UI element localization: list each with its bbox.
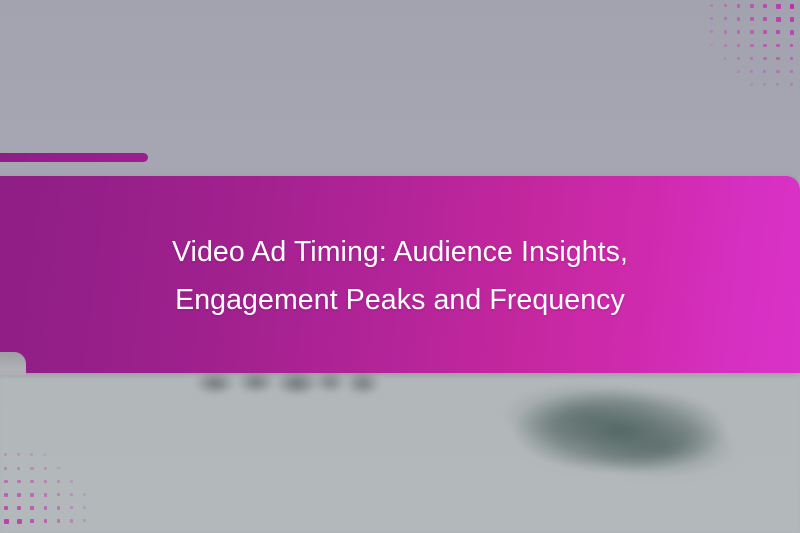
banner-graphic: Video Ad Timing: Audience Insights, Enga… [0, 0, 800, 533]
background-bottom-wash [0, 373, 800, 533]
banner-notch-shadow [0, 352, 26, 375]
page-title: Video Ad Timing: Audience Insights, Enga… [0, 228, 800, 324]
accent-bar [0, 153, 148, 162]
background-top-wash [0, 0, 800, 176]
page-title-line-1: Video Ad Timing: Audience Insights, [0, 228, 800, 276]
page-title-line-2: Engagement Peaks and Frequency [0, 276, 800, 324]
